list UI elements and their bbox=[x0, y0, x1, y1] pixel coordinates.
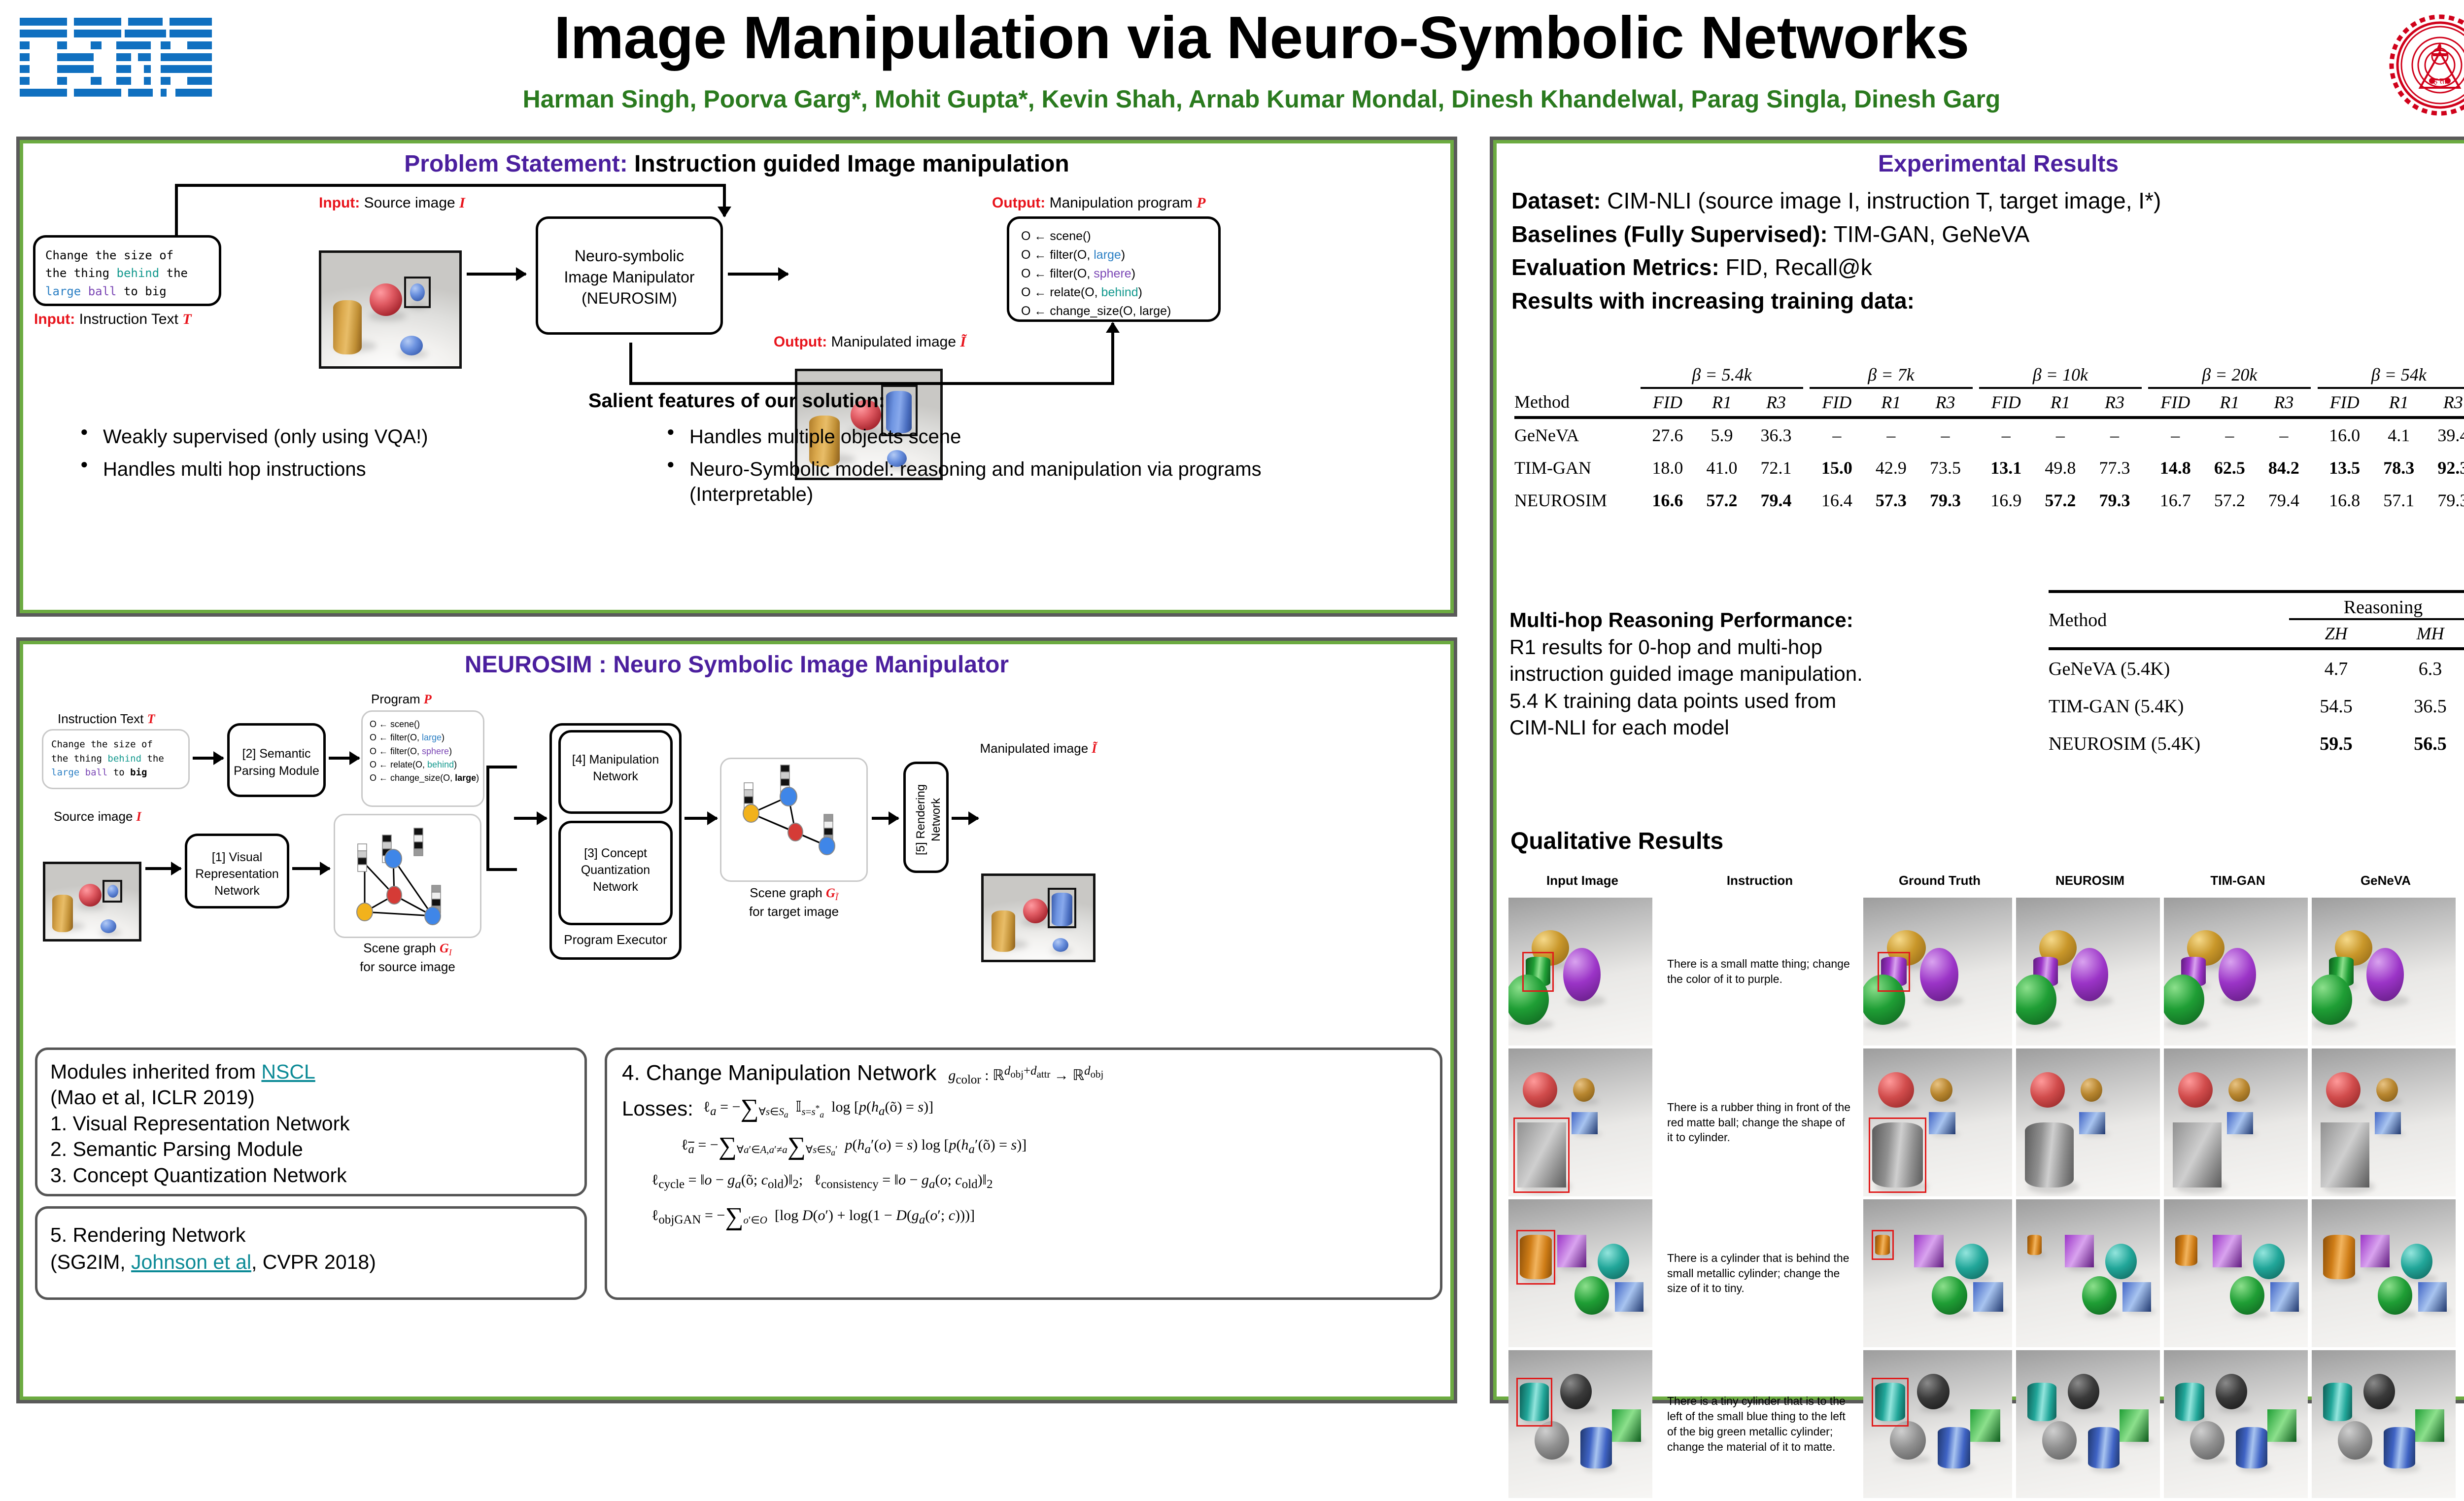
results-title: Experimental Results bbox=[1497, 143, 2464, 177]
scene-object bbox=[2230, 1276, 2264, 1315]
arrow-executor-to-target-graph bbox=[684, 817, 717, 820]
concept-module-line-1: [3] Concept bbox=[561, 845, 670, 862]
arrow-source-to-visual bbox=[145, 867, 181, 870]
mh-table-cell: 54.5 bbox=[2289, 688, 2383, 725]
scene-object bbox=[2338, 1421, 2372, 1460]
semantic-parsing-module-box: [2] Semantic Parsing Module bbox=[227, 723, 326, 797]
render-citation: (SG2IM, Johnson et al, CVPR 2018) bbox=[50, 1249, 572, 1276]
highlight-bbox bbox=[1516, 1378, 1552, 1427]
results-summary-lines: Dataset: CIM-NLI (source image I, instru… bbox=[1511, 186, 2464, 319]
scene-object bbox=[1574, 1276, 1609, 1315]
scene-object bbox=[2175, 1383, 2204, 1421]
table-row: TIM-GAN (5.4K)54.536.5 bbox=[2049, 688, 2464, 725]
scene-object bbox=[1535, 1421, 1569, 1460]
module-item: 3. Concept Quantization Network bbox=[50, 1162, 572, 1188]
arch-instruction-line-2: the thing behind the bbox=[51, 752, 180, 766]
qualitative-image-cell bbox=[2164, 898, 2308, 1046]
scene-object bbox=[1929, 1112, 1955, 1134]
nscl-link[interactable]: NSCL bbox=[261, 1060, 315, 1083]
render-heading: 5. Rendering Network bbox=[50, 1222, 572, 1249]
visual-module-line-1: [1] Visual bbox=[187, 849, 287, 866]
table-cell: 57.3 bbox=[1864, 484, 1918, 517]
arrow-into-manipulator bbox=[723, 184, 726, 216]
table-cell: 16.8 bbox=[2318, 484, 2372, 517]
modules-citation: (Mao et al, ICLR 2019) bbox=[50, 1084, 572, 1110]
scene-object bbox=[1612, 1409, 1641, 1442]
qualitative-image-cell bbox=[2312, 1350, 2456, 1498]
scene-object bbox=[1955, 1244, 1988, 1279]
qualitative-image-cell bbox=[2164, 1199, 2308, 1347]
modules-item-list: 1. Visual Representation Network2. Seman… bbox=[50, 1111, 572, 1188]
qualitative-row: There is a rubber thing in front of the … bbox=[1508, 1048, 2464, 1196]
table-cell: 72.1 bbox=[1749, 452, 1803, 484]
concept-quantization-network-box: [3] Concept Quantization Network bbox=[558, 821, 673, 925]
modules-inherited-box: Modules inherited from NSCL (Mao et al, … bbox=[35, 1047, 587, 1196]
arrow-source-to-manipulator bbox=[467, 273, 526, 276]
arrow-manipulator-to-output bbox=[728, 273, 788, 276]
table-cell: 14.8 bbox=[2148, 452, 2202, 484]
qualitative-image-cell bbox=[1508, 1199, 1652, 1347]
visual-module-line-3: Network bbox=[187, 882, 287, 899]
scene-object bbox=[2323, 1235, 2355, 1279]
scene-graph-source-caption: Scene graph GI for source image bbox=[319, 940, 496, 975]
sub-header: R3 bbox=[1918, 388, 1972, 413]
manipulator-line-2: Image Manipulator bbox=[538, 267, 720, 288]
feedback-line-left bbox=[175, 184, 178, 238]
scene-object bbox=[1920, 948, 1959, 1001]
instruction-line-1: Change the size of bbox=[45, 246, 209, 264]
highlight-bbox bbox=[1872, 1230, 1894, 1260]
scene-object bbox=[2068, 1374, 2099, 1409]
qualitative-image-cell bbox=[1863, 1350, 2012, 1498]
qualitative-instruction: There is a small matte thing; change the… bbox=[1656, 898, 1863, 1046]
qualitative-grid: There is a small matte thing; change the… bbox=[1508, 898, 2464, 1501]
scene-object bbox=[2326, 1072, 2361, 1108]
table-cell: – bbox=[1810, 418, 1864, 452]
qualitative-column-headers: Input ImageInstructionGround TruthNEUROS… bbox=[1508, 873, 2464, 888]
table-cell: 92.3 bbox=[2426, 452, 2464, 484]
table-cell: – bbox=[1979, 418, 2033, 452]
poster-header: Image Manipulation via Neuro-Symbolic Ne… bbox=[0, 0, 2464, 132]
scene-object bbox=[2323, 1383, 2352, 1421]
scene-object bbox=[2120, 1409, 2148, 1442]
results-summary-line: Evaluation Metrics: FID, Recall@k bbox=[1511, 252, 2464, 283]
loss-equation-4: ℓobjGAN = −∑o′∈O [log D(o′) + log(1 − D(… bbox=[651, 1202, 1425, 1231]
table-cell: 57.1 bbox=[2372, 484, 2426, 517]
multihop-table-wrap: MethodReasoningZHMHGeNeVA (5.4K)4.76.3TI… bbox=[2049, 590, 2464, 763]
qualitative-column-header: Input Image bbox=[1508, 873, 1656, 888]
table-cell: 57.2 bbox=[2033, 484, 2088, 517]
scene-object bbox=[1572, 1112, 1598, 1134]
qualitative-image-cell bbox=[2164, 1350, 2308, 1498]
table-cell: 62.5 bbox=[2202, 452, 2257, 484]
ibm-logo bbox=[20, 18, 212, 97]
arrow-visual-to-scenegraph bbox=[292, 867, 330, 870]
table-cell: 4.1 bbox=[2372, 418, 2426, 452]
scene-object bbox=[2384, 1427, 2415, 1468]
scene-object bbox=[2361, 1235, 2389, 1267]
semantic-module-line-2: Parsing Module bbox=[230, 763, 323, 780]
instruction-line-2: the thing behind the bbox=[45, 264, 209, 282]
arrow-rendering-to-output bbox=[952, 817, 978, 820]
table-cell: 5.9 bbox=[1695, 418, 1749, 452]
rendering-network-box: [5] Rendering Network bbox=[903, 762, 949, 873]
scene-object bbox=[1973, 1282, 2003, 1312]
qualitative-image-cell bbox=[1863, 1048, 2012, 1196]
sub-header: FID bbox=[1810, 388, 1864, 413]
salient-feature-item: Handles multiple objects scene bbox=[664, 424, 1344, 449]
scene-object bbox=[2175, 1235, 2197, 1266]
arch-program-box: O ← scene()O ← filter(O, large)O ← filte… bbox=[361, 710, 484, 807]
multihop-body-line: CIM-NLI for each model bbox=[1509, 714, 2032, 741]
scene-object bbox=[2082, 1276, 2117, 1315]
results-summary-line: Baselines (Fully Supervised): TIM-GAN, G… bbox=[1511, 219, 2464, 250]
table-cell: 73.5 bbox=[1918, 452, 1972, 484]
problem-title-accent: Problem Statement: bbox=[404, 151, 627, 177]
scene-object bbox=[1890, 1421, 1925, 1460]
manipulation-program-box: O ← scene()O ← filter(O, large)O ← filte… bbox=[1007, 216, 1221, 322]
scene-graph-target-caption: Scene graph GĨ for target image bbox=[708, 885, 880, 920]
scene-object bbox=[2079, 1112, 2105, 1134]
table-cell: 79.3 bbox=[2426, 484, 2464, 517]
table-cell: 77.3 bbox=[2088, 452, 2142, 484]
scenegraph-to-executor bbox=[486, 868, 517, 871]
qualitative-instruction: There is a rubber thing in front of the … bbox=[1656, 1048, 1863, 1196]
scene-object bbox=[2030, 1072, 2065, 1108]
arch-instruction-line-1: Change the size of bbox=[51, 737, 180, 752]
mh-table-cell: 4.7 bbox=[2289, 649, 2383, 688]
scene-object bbox=[2227, 1112, 2253, 1134]
results-summary-line: Results with increasing training data: bbox=[1511, 286, 2464, 316]
sub-header: R3 bbox=[2088, 388, 2142, 413]
semantic-module-line-1: [2] Semantic bbox=[230, 745, 323, 763]
highlight-bbox bbox=[1878, 952, 1910, 992]
highlight-bbox bbox=[1869, 1117, 1927, 1193]
group-header: β = 10k bbox=[1979, 364, 2142, 388]
salient-feature-item: Weakly supervised (only using VQA!) bbox=[77, 424, 644, 449]
scene-graph-target-svg bbox=[721, 759, 869, 883]
sub-header: FID bbox=[1979, 388, 2033, 413]
table-cell: 16.9 bbox=[1979, 484, 2033, 517]
group-header: β = 54k bbox=[2318, 364, 2464, 388]
table-row: GeNeVA27.65.936.3–––––––––16.04.139.4 bbox=[1514, 418, 2464, 452]
instruction-line-3: large ball to big bbox=[45, 282, 209, 300]
scene-object bbox=[2267, 1409, 2296, 1442]
table-cell: 15.0 bbox=[1810, 452, 1864, 484]
scene-object bbox=[1930, 1078, 1952, 1102]
manip-module-line-1: [4] Manipulation bbox=[561, 751, 670, 768]
program-to-executor-vert bbox=[486, 766, 489, 871]
experimental-results-panel: Experimental Results Dataset: CIM-NLI (s… bbox=[1493, 140, 2464, 1400]
loss-equation-3: ℓcycle = ‖o − ga(õ; cold)‖2; ℓconsistenc… bbox=[651, 1172, 1425, 1191]
table-row: GeNeVA (5.4K)4.76.3 bbox=[2049, 649, 2464, 688]
table-cell: 36.3 bbox=[1749, 418, 1803, 452]
manipulator-line-3: (NEUROSIM) bbox=[538, 288, 720, 309]
salient-features-right-list: Handles multiple objects sceneNeuro-Symb… bbox=[664, 424, 1344, 515]
gcolor-formula: gcolor : ℝdobj+dattr → ℝdobj bbox=[948, 1064, 1103, 1087]
arrow-into-program-box bbox=[1111, 323, 1114, 385]
scene-object bbox=[1970, 1409, 2000, 1442]
qualitative-image-cell bbox=[2164, 1048, 2308, 1196]
mh-table-cell: 36.5 bbox=[2383, 688, 2464, 725]
scene-graph-source-svg bbox=[335, 815, 483, 940]
scene-object bbox=[2216, 1374, 2247, 1409]
scene-object bbox=[2164, 975, 2204, 1025]
losses-heading: 4. Change Manipulation Network bbox=[622, 1061, 936, 1085]
arch-source-image bbox=[43, 862, 141, 942]
render-module-line-2: Network bbox=[928, 784, 944, 855]
table-cell: 57.2 bbox=[2202, 484, 2257, 517]
qualitative-column-header: TIM-GAN bbox=[2164, 873, 2312, 888]
scene-object bbox=[2363, 1374, 2395, 1409]
scene-object bbox=[1938, 1427, 1970, 1468]
program-line: O ← scene() bbox=[370, 718, 483, 731]
qualitative-image-cell bbox=[2312, 1199, 2456, 1347]
arch-manipulated-image bbox=[981, 873, 1095, 962]
table-cell: – bbox=[2257, 418, 2311, 452]
program-line: O ← relate(O, behind) bbox=[1021, 283, 1218, 302]
manipulation-network-box: [4] Manipulation Network bbox=[558, 730, 673, 814]
scene-object bbox=[2270, 1282, 2299, 1312]
problem-statement-panel: Problem Statement: Instruction guided Im… bbox=[20, 140, 1454, 613]
table-cell: 57.2 bbox=[1695, 484, 1749, 517]
qualitative-image-cell bbox=[1863, 898, 2012, 1046]
scene-graph-target-box bbox=[720, 758, 868, 882]
table-cell: 39.4 bbox=[2426, 418, 2464, 452]
program-line: O ← change_size(O, large) bbox=[1021, 302, 1218, 320]
mh-group-header: Reasoning bbox=[2289, 596, 2464, 619]
scene-object bbox=[2042, 1421, 2077, 1460]
sub-header: R1 bbox=[2372, 388, 2426, 413]
table-cell: 79.4 bbox=[2257, 484, 2311, 517]
qualitative-column-header: GeNeVA bbox=[2312, 873, 2460, 888]
qualitative-image-cell bbox=[1508, 898, 1652, 1046]
scene-object bbox=[2122, 1282, 2151, 1312]
scene-object bbox=[1573, 1078, 1595, 1102]
scene-object bbox=[2088, 1427, 2120, 1468]
program-line: O ← filter(O, sphere) bbox=[1021, 264, 1218, 283]
program-line: O ← filter(O, large) bbox=[370, 731, 483, 744]
sub-header: FID bbox=[2318, 388, 2372, 413]
group-header: β = 5.4k bbox=[1641, 364, 1803, 388]
qualitative-image-cell bbox=[1863, 1199, 2012, 1347]
mh-sub-header: ZH bbox=[2289, 619, 2383, 644]
sub-header: R1 bbox=[2033, 388, 2088, 413]
qualitative-column-header: Ground Truth bbox=[1863, 873, 2016, 888]
johnson-et-al-link[interactable]: Johnson et al bbox=[131, 1251, 251, 1273]
qualitative-image-cell bbox=[2016, 1048, 2160, 1196]
table-cell: – bbox=[2202, 418, 2257, 452]
loss-equation-1: ℓa = −∑∀s∈Sa 𝕀s=s*a log [p(ha(õ) = s)] bbox=[703, 1094, 933, 1123]
scene-object bbox=[2105, 1244, 2137, 1279]
sub-header: R3 bbox=[2426, 388, 2464, 413]
table-cell: 84.2 bbox=[2257, 452, 2311, 484]
row-header-label: Method bbox=[1514, 388, 1641, 413]
multihop-body: R1 results for 0-hop and multi-hopinstru… bbox=[1509, 634, 2032, 741]
table-cell: 16.7 bbox=[2148, 484, 2202, 517]
multihop-body-line: instruction guided image manipulation. bbox=[1509, 661, 2032, 688]
visual-module-line-2: Representation bbox=[187, 866, 287, 882]
row-method: TIM-GAN bbox=[1514, 452, 1641, 484]
scene-object bbox=[2415, 1409, 2444, 1442]
multihop-body-line: 5.4 K training data points used from bbox=[1509, 688, 2032, 715]
highlight-bbox bbox=[1513, 1117, 1570, 1193]
scene-object bbox=[2065, 1235, 2093, 1267]
sub-header: R1 bbox=[1695, 388, 1749, 413]
architecture-title: NEUROSIM : Neuro Symbolic Image Manipula… bbox=[23, 644, 1450, 678]
multihop-text-block: Multi-hop Reasoning Performance: R1 resu… bbox=[1509, 607, 2032, 741]
render-module-line-1: [5] Rendering bbox=[913, 784, 928, 855]
qualitative-image-cell bbox=[2016, 1199, 2160, 1347]
qualitative-row: There is a small matte thing; change the… bbox=[1508, 898, 2464, 1046]
manipulation-program-caption: Output: Manipulation program P bbox=[992, 195, 1205, 211]
qualitative-image-cell bbox=[1508, 1048, 1652, 1196]
scene-object bbox=[2027, 1235, 2042, 1255]
program-line: O ← filter(O, large) bbox=[1021, 245, 1218, 264]
module-item: 2. Semantic Parsing Module bbox=[50, 1136, 572, 1162]
arch-source-caption: Source image I bbox=[54, 809, 141, 824]
scene-object bbox=[2219, 948, 2256, 1001]
concept-module-line-3: Network bbox=[561, 878, 670, 895]
qualitative-image-cell bbox=[2016, 898, 2160, 1046]
arch-instruction-box: Change the size of the thing behind the … bbox=[42, 729, 190, 789]
mh-sub-header: MH bbox=[2383, 619, 2464, 644]
scene-object bbox=[1523, 1072, 1557, 1108]
return-line-vert-left bbox=[629, 343, 632, 385]
qualitative-column-header: Instruction bbox=[1656, 873, 1863, 888]
qualitative-row: There is a cylinder that is behind the s… bbox=[1508, 1199, 2464, 1347]
scene-object bbox=[2366, 948, 2404, 1001]
results-summary-line: Dataset: CIM-NLI (source image I, instru… bbox=[1511, 186, 2464, 216]
arrow-to-rendering bbox=[872, 817, 898, 820]
scene-object bbox=[1560, 1374, 1592, 1409]
multihop-heading: Multi-hop Reasoning Performance: bbox=[1509, 607, 2032, 634]
losses-box: 4. Change Manipulation Network gcolor : … bbox=[605, 1047, 1442, 1300]
svg-text:ह ता: ह ता bbox=[2433, 76, 2447, 86]
table-cell: 27.6 bbox=[1641, 418, 1695, 452]
arch-instruction-caption: Instruction Text T bbox=[58, 711, 155, 727]
page-title: Image Manipulation via Neuro-Symbolic Ne… bbox=[345, 6, 2178, 69]
table-cell: 41.0 bbox=[1695, 452, 1749, 484]
sub-header: FID bbox=[1641, 388, 1695, 413]
rendering-network-info-box: 5. Rendering Network (SG2IM, Johnson et … bbox=[35, 1206, 587, 1300]
scene-object bbox=[1580, 1427, 1612, 1468]
sub-header: R1 bbox=[1864, 388, 1918, 413]
scene-object bbox=[2173, 1122, 2222, 1187]
qualitative-instruction: There is a tiny cylinder that is to the … bbox=[1656, 1350, 1863, 1498]
scene-object bbox=[2378, 1276, 2412, 1315]
row-method: NEUROSIM bbox=[1514, 484, 1641, 517]
scene-object bbox=[1598, 1244, 1629, 1279]
table-cell: 16.6 bbox=[1641, 484, 1695, 517]
scene-object bbox=[2190, 1421, 2224, 1460]
qualitative-image-cell bbox=[1508, 1350, 1652, 1498]
scene-object bbox=[1914, 1235, 1944, 1267]
table-cell: 13.5 bbox=[2318, 452, 2372, 484]
mh-row-header: Method bbox=[2049, 596, 2289, 644]
program-executor-label: Program Executor bbox=[549, 932, 682, 947]
problem-statement-title: Problem Statement: Instruction guided Im… bbox=[23, 143, 1450, 177]
program-line: O ← filter(O, sphere) bbox=[370, 745, 483, 758]
qualitative-image-cell bbox=[2312, 898, 2456, 1046]
table-row: NEUROSIM16.657.279.416.457.379.316.957.2… bbox=[1514, 484, 2464, 517]
arch-program-caption: Program P bbox=[371, 692, 432, 707]
author-list: Harman Singh, Poorva Garg*, Mohit Gupta*… bbox=[345, 85, 2178, 113]
losses-label: Losses: bbox=[622, 1097, 693, 1120]
multihop-table: MethodReasoningZHMHGeNeVA (5.4K)4.76.3TI… bbox=[2049, 590, 2464, 763]
salient-features-left-list: Weakly supervised (only using VQA!)Handl… bbox=[77, 424, 644, 490]
modules-heading: Modules inherited from NSCL bbox=[50, 1059, 572, 1084]
arrow-into-program-executor bbox=[514, 817, 547, 820]
mh-table-cell: 59.5 bbox=[2289, 725, 2383, 763]
qualitative-column-header: NEUROSIM bbox=[2016, 873, 2164, 888]
mh-row-method: TIM-GAN (5.4K) bbox=[2049, 688, 2289, 725]
table-row: TIM-GAN18.041.072.115.042.973.513.149.87… bbox=[1514, 452, 2464, 484]
scene-object bbox=[2071, 948, 2108, 1001]
qualitative-title: Qualitative Results bbox=[1510, 828, 1723, 855]
table-cell: 79.4 bbox=[1749, 484, 1803, 517]
manip-module-line-2: Network bbox=[561, 768, 670, 785]
highlight-bbox bbox=[1872, 1378, 1909, 1427]
arrow-parser-to-program bbox=[329, 757, 359, 760]
qualitative-image-cell bbox=[2312, 1048, 2456, 1196]
sub-header: R3 bbox=[1749, 388, 1803, 413]
table-cell: 16.4 bbox=[1810, 484, 1864, 517]
scene-object bbox=[2376, 1078, 2398, 1102]
mh-table-cell: 6.3 bbox=[2383, 649, 2464, 688]
module-item: 1. Visual Representation Network bbox=[50, 1111, 572, 1136]
scene-object bbox=[2016, 975, 2056, 1025]
concept-module-line-2: Quantization bbox=[561, 862, 670, 878]
scene-object bbox=[2401, 1244, 2432, 1279]
sub-header: FID bbox=[2148, 388, 2202, 413]
scene-object bbox=[2321, 1122, 2369, 1187]
arch-manipulated-caption: Manipulated image Ĩ bbox=[979, 741, 1097, 756]
highlight-bbox bbox=[1516, 1230, 1555, 1285]
scene-object bbox=[2312, 975, 2352, 1025]
table-cell: 42.9 bbox=[1864, 452, 1918, 484]
arch-instruction-line-3: large ball to big bbox=[51, 766, 180, 780]
table-cell: – bbox=[1864, 418, 1918, 452]
visual-representation-network-box: [1] Visual Representation Network bbox=[185, 834, 289, 908]
scene-object bbox=[2025, 1122, 2074, 1187]
instruction-text-box: Change the size of the thing behind the … bbox=[33, 235, 221, 306]
scene-object bbox=[2178, 1072, 2213, 1108]
return-line-horiz bbox=[629, 382, 1112, 385]
group-header: β = 20k bbox=[2148, 364, 2311, 388]
iit-delhi-seal-logo: ह ता bbox=[2383, 14, 2464, 116]
program-line-list: O ← scene()O ← filter(O, large)O ← filte… bbox=[1021, 227, 1218, 320]
table-cell: – bbox=[1918, 418, 1972, 452]
sub-header: R3 bbox=[2257, 388, 2311, 413]
program-line: O ← change_size(O, large) bbox=[370, 771, 483, 785]
manipulator-line-1: Neuro-symbolic bbox=[538, 245, 720, 267]
qualitative-image-cell bbox=[2016, 1350, 2160, 1498]
scene-object bbox=[2027, 1383, 2056, 1421]
salient-feature-item: Handles multi hop instructions bbox=[77, 457, 644, 482]
table-cell: – bbox=[2033, 418, 2088, 452]
source-image-thumbnail bbox=[319, 250, 462, 369]
loss-equation-2: ℓa = −∑∀a′∈A,a′≠a∑∀s∈Sa′ p(ha′(o) = s) l… bbox=[681, 1132, 1425, 1161]
scene-object bbox=[2253, 1244, 2285, 1279]
scene-object bbox=[1557, 1235, 1586, 1267]
main-results-table-wrap: β = 5.4kβ = 7kβ = 10kβ = 20kβ = 54kMetho… bbox=[1514, 364, 2464, 517]
mh-row-method: GeNeVA (5.4K) bbox=[2049, 649, 2289, 688]
salient-features-title: Salient features of our solution: bbox=[23, 390, 1450, 412]
manipulated-image-caption: Output: Manipulated image Ĩ bbox=[762, 334, 977, 350]
main-results-table: β = 5.4kβ = 7kβ = 10kβ = 20kβ = 54kMetho… bbox=[1514, 364, 2464, 517]
qualitative-instruction: There is a cylinder that is behind the s… bbox=[1656, 1199, 1863, 1347]
